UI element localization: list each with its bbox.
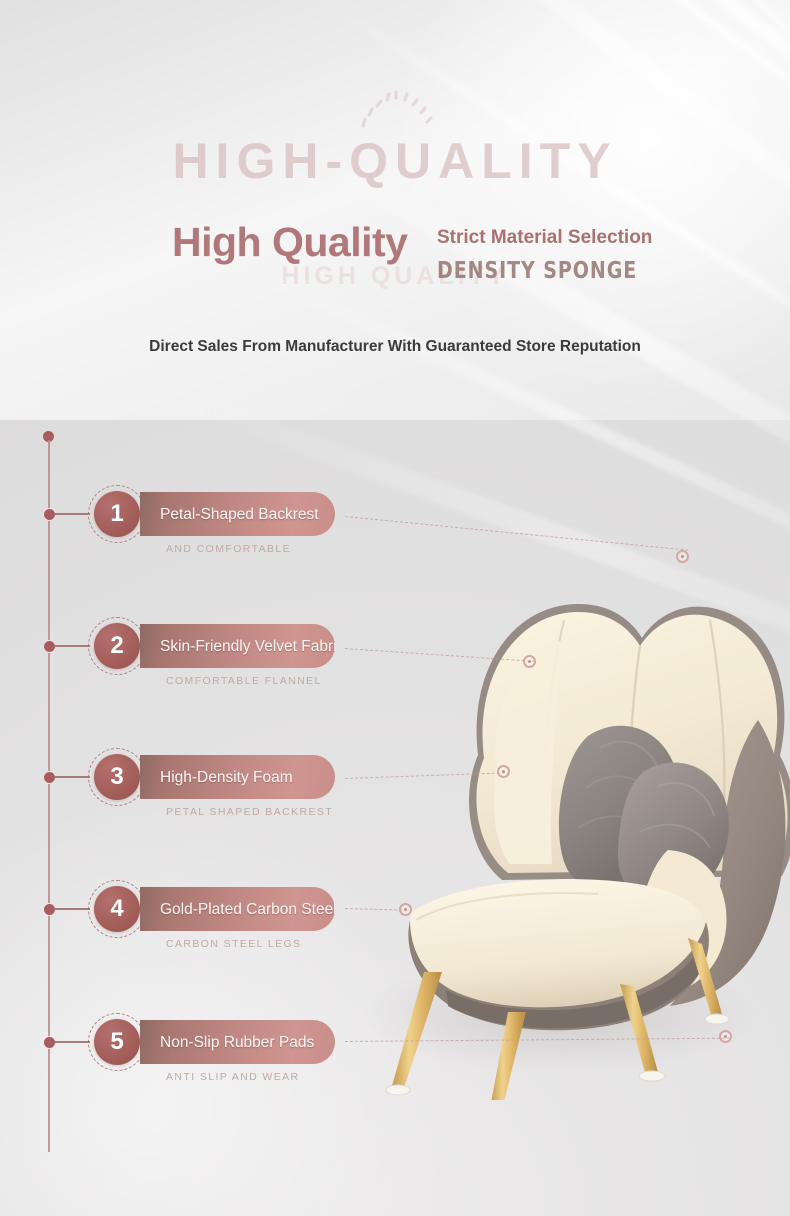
chair-hotspot-5 — [719, 1030, 732, 1043]
pill-background — [140, 1020, 335, 1064]
chair-hotspot-2 — [523, 655, 536, 668]
timeline-stub-5 — [54, 1041, 90, 1043]
tagline: Direct Sales From Manufacturer With Guar… — [0, 338, 790, 356]
page-title: High Quality — [172, 219, 407, 266]
side-title: Strict Material Selection — [437, 227, 652, 249]
side-subtitle: DENSITY SPONGE — [437, 258, 637, 284]
pill-background — [140, 887, 335, 931]
timeline-stub-2 — [54, 645, 90, 647]
timeline-stub-1 — [54, 513, 90, 515]
feature-subtitle-1: AND COMFORTABLE — [166, 543, 291, 555]
product-infographic: HIGH-QUALITY HIGH QUALITY High Quality S… — [0, 0, 790, 1216]
ghost-title: HIGH-QUALITY — [0, 132, 790, 190]
feature-pill-3: High-Density Foam — [140, 755, 335, 799]
feature-pill-4: Gold-Plated Carbon Steel — [140, 887, 335, 931]
feature-pill-2: Skin-Friendly Velvet Fabric — [140, 624, 335, 668]
feature-number-3: 3 — [94, 754, 140, 800]
feature-subtitle-4: CARBON STEEL LEGS — [166, 938, 301, 950]
feature-number-4: 4 — [94, 886, 140, 932]
pill-background — [140, 624, 335, 668]
feature-pill-1: Petal-Shaped Backrest — [140, 492, 335, 536]
feature-number-2: 2 — [94, 623, 140, 669]
pill-background — [140, 755, 335, 799]
feature-pill-5: Non-Slip Rubber Pads — [140, 1020, 335, 1064]
chair-hotspot-3 — [497, 765, 510, 778]
feature-subtitle-3: PETAL SHAPED BACKREST — [166, 806, 333, 818]
feature-number-1: 1 — [94, 491, 140, 537]
feature-subtitle-5: ANTI SLIP AND WEAR — [166, 1071, 300, 1083]
feature-subtitle-2: COMFORTABLE FLANNEL — [166, 675, 322, 687]
timeline-stub-4 — [54, 908, 90, 910]
pill-background — [140, 492, 335, 536]
product-image-chair — [350, 520, 790, 1100]
feature-number-5: 5 — [94, 1019, 140, 1065]
chair-hotspot-4 — [399, 903, 412, 916]
timeline-stub-3 — [54, 776, 90, 778]
ghost-subtitle: HIGH QUALITY — [0, 262, 790, 291]
chair-hotspot-1 — [676, 550, 689, 563]
radiating-arc-icon — [357, 88, 435, 128]
